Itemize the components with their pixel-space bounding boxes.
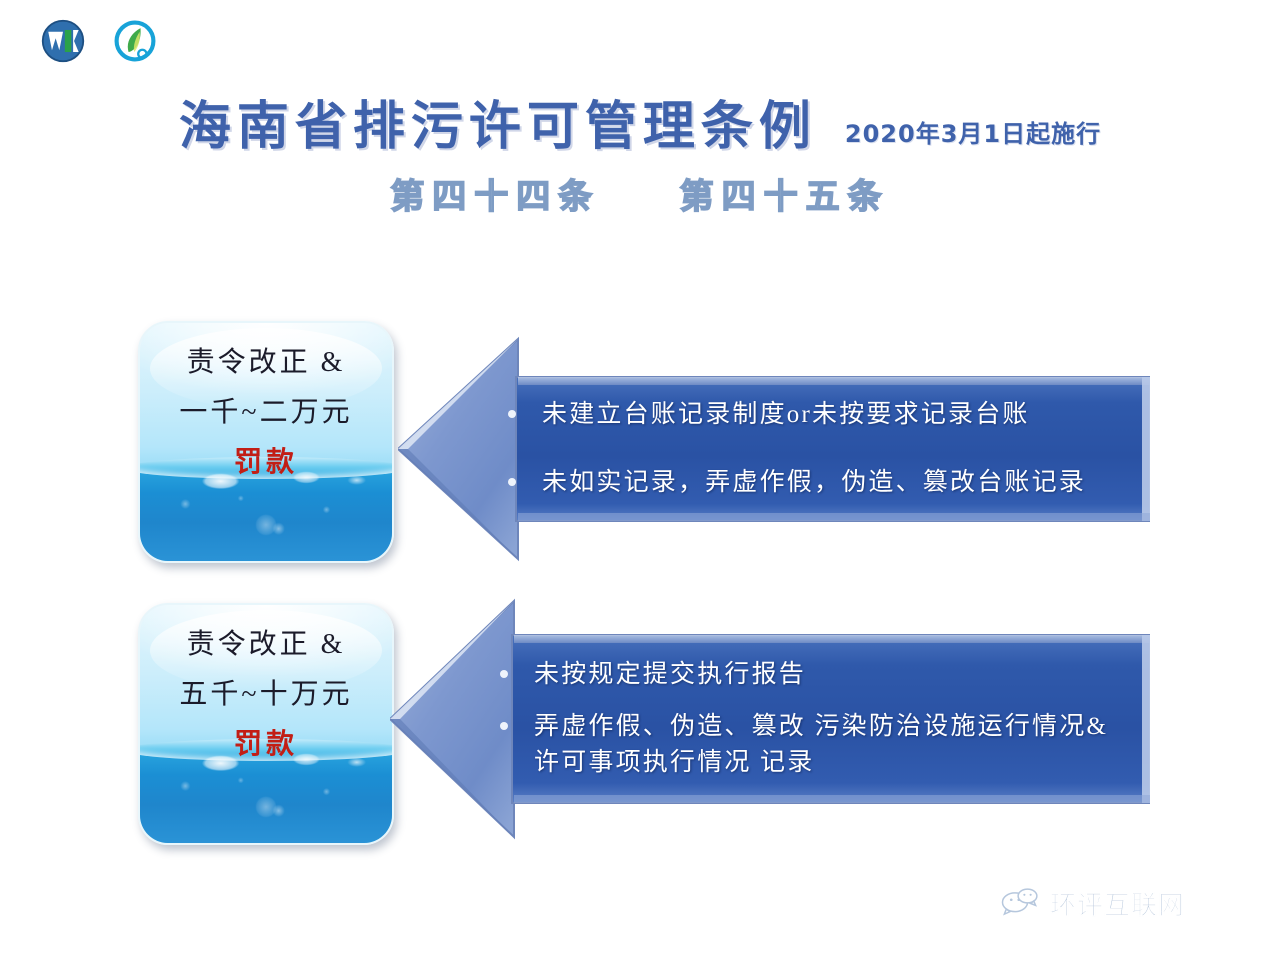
watermark: 环评互联网 <box>1000 885 1185 922</box>
bullet-dot-icon <box>500 670 508 678</box>
wk-emblem-logo-icon <box>40 18 86 64</box>
card-line-2: 五千~十万元 <box>140 681 392 709</box>
list-item: 弄虚作假、伪造、篡改 污染防治设施运行情况&许可事项执行情况 记录 <box>500 709 1128 782</box>
slide-root: { "header": { "logos": [ { "name": "wk-e… <box>0 0 1280 955</box>
list-item: 未按规定提交执行报告 <box>500 657 1128 693</box>
penalty-row-2: 责令改正 & 五千~十万元 罚款 <box>0 595 1280 845</box>
bullet-dot-icon <box>508 478 516 486</box>
bullet-dot-icon <box>508 410 516 418</box>
water-illustration <box>140 466 392 561</box>
effective-date-label: 2020年3月1日起施行 <box>845 114 1101 155</box>
list-item: 未如实记录，弄虚作假，伪造、篡改台账记录 <box>508 465 1128 501</box>
wechat-bubble-icon <box>1000 886 1040 921</box>
title-line: 海南省排污许可管理条例 2020年3月1日起施行 <box>0 100 1280 155</box>
violation-list-1: 未建立台账记录制度or未按要求记录台账 未如实记录，弄虚作假，伪造、篡改台账记录 <box>508 325 1128 573</box>
title-block: 海南省排污许可管理条例 2020年3月1日起施行 第四十四条 第四十五条 <box>0 100 1280 218</box>
penalty-card-1: 责令改正 & 一千~二万元 罚款 <box>138 321 394 563</box>
violation-arrow-1: 未建立台账记录制度or未按要求记录台账 未如实记录，弄虚作假，伪造、篡改台账记录 <box>398 325 1150 573</box>
card-line-1: 责令改正 & <box>140 631 392 659</box>
page-title: 海南省排污许可管理条例 <box>179 100 817 155</box>
violation-text: 未建立台账记录制度or未按要求记录台账 <box>542 397 1128 433</box>
penalty-row-1: 责令改正 & 一千~二万元 罚款 <box>0 313 1280 563</box>
violation-arrow-2: 未按规定提交执行报告 弄虚作假、伪造、篡改 污染防治设施运行情况&许可事项执行情… <box>390 595 1150 843</box>
penalty-card-text-2: 责令改正 & 五千~十万元 罚款 <box>140 631 392 759</box>
penalty-card-text-1: 责令改正 & 一千~二万元 罚款 <box>140 349 392 477</box>
penalty-label: 罚款 <box>140 731 392 759</box>
green-leaf-circle-logo-icon <box>112 18 158 64</box>
penalty-card-2: 责令改正 & 五千~十万元 罚款 <box>138 603 394 845</box>
watermark-text: 环评互联网 <box>1050 885 1185 922</box>
violation-text: 弄虚作假、伪造、篡改 污染防治设施运行情况&许可事项执行情况 记录 <box>534 709 1128 782</box>
water-illustration <box>140 748 392 843</box>
logo-row <box>40 18 158 64</box>
violation-text: 未如实记录，弄虚作假，伪造、篡改台账记录 <box>542 465 1128 501</box>
violation-text: 未按规定提交执行报告 <box>534 657 1128 693</box>
article-subtitle: 第四十四条 第四十五条 <box>0 169 1280 218</box>
violation-list-2: 未按规定提交执行报告 弄虚作假、伪造、篡改 污染防治设施运行情况&许可事项执行情… <box>500 595 1128 843</box>
list-item: 未建立台账记录制度or未按要求记录台账 <box>508 397 1128 433</box>
card-line-1: 责令改正 & <box>140 349 392 377</box>
card-line-2: 一千~二万元 <box>140 399 392 427</box>
penalty-label: 罚款 <box>140 449 392 477</box>
bullet-dot-icon <box>500 722 508 730</box>
